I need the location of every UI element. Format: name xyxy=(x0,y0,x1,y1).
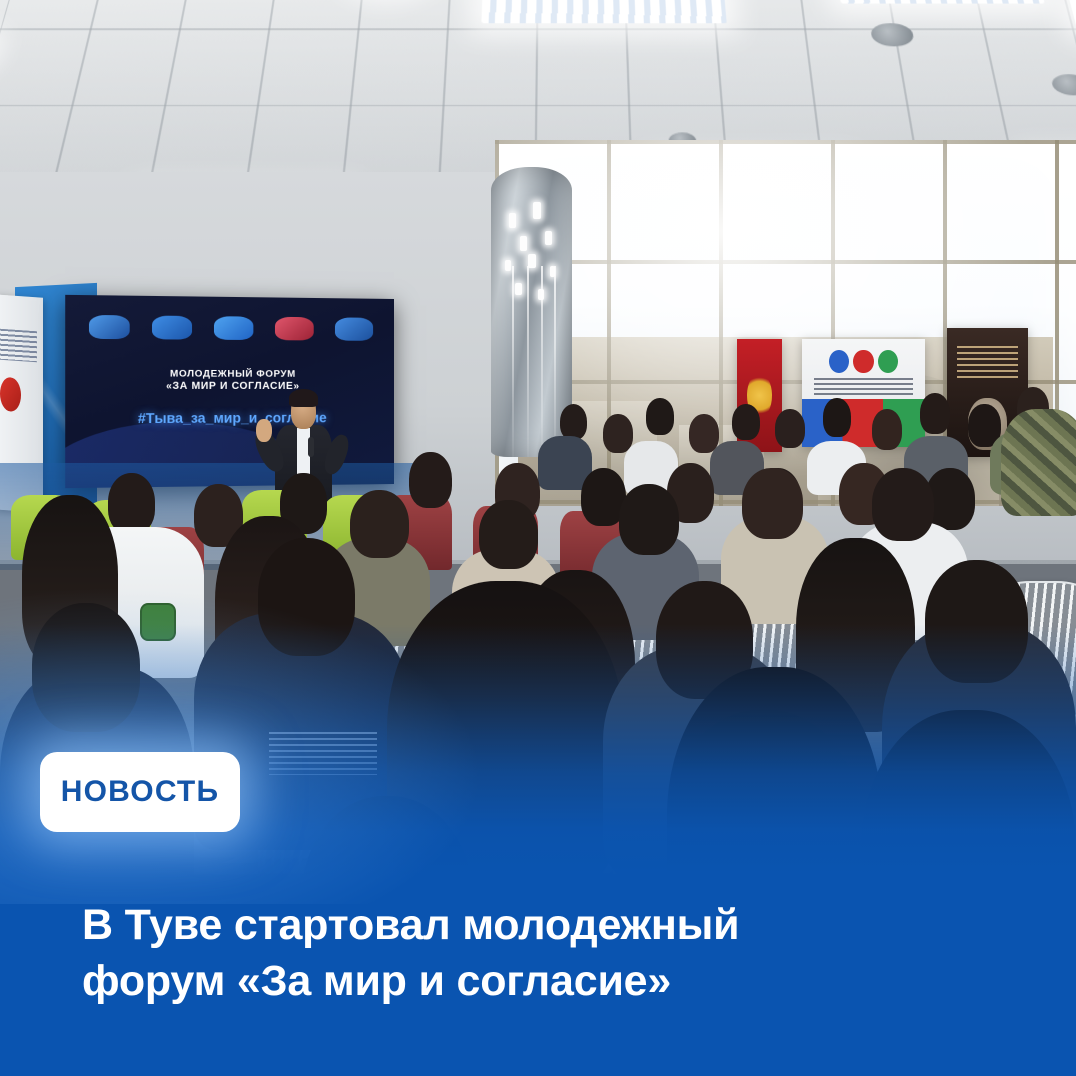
audience-head xyxy=(409,452,452,508)
audience-head xyxy=(920,393,950,434)
audience-head xyxy=(350,490,409,559)
audience-head xyxy=(872,468,934,541)
audience-head xyxy=(823,398,851,437)
news-badge-label: НОВОСТЬ xyxy=(61,775,219,809)
audience-head xyxy=(872,409,902,450)
headline-text: В Туве стартовал молодежный форум «За ми… xyxy=(82,898,1016,1010)
news-card: МОЛОДЕЖНЫЙ ФОРУМ «ЗА МИР И СОГЛАСИЕ» #Ты… xyxy=(0,0,1076,1076)
audience-head xyxy=(603,414,633,453)
audience-head xyxy=(619,484,679,555)
audience-head xyxy=(689,414,719,453)
audience-head xyxy=(560,404,588,441)
jacket-logo-green xyxy=(140,603,177,642)
audience-head xyxy=(732,404,760,441)
audience-head xyxy=(742,468,802,539)
audience-body-camo xyxy=(1001,409,1076,517)
audience-head xyxy=(646,398,674,435)
hoodie-print-text xyxy=(269,732,377,775)
audience-head xyxy=(479,500,538,569)
audience-head xyxy=(258,538,355,656)
audience-head xyxy=(108,473,155,533)
audience-head xyxy=(775,409,805,448)
news-badge[interactable]: НОВОСТЬ xyxy=(40,752,240,832)
audience-head xyxy=(925,560,1027,684)
audience-head xyxy=(32,603,140,732)
